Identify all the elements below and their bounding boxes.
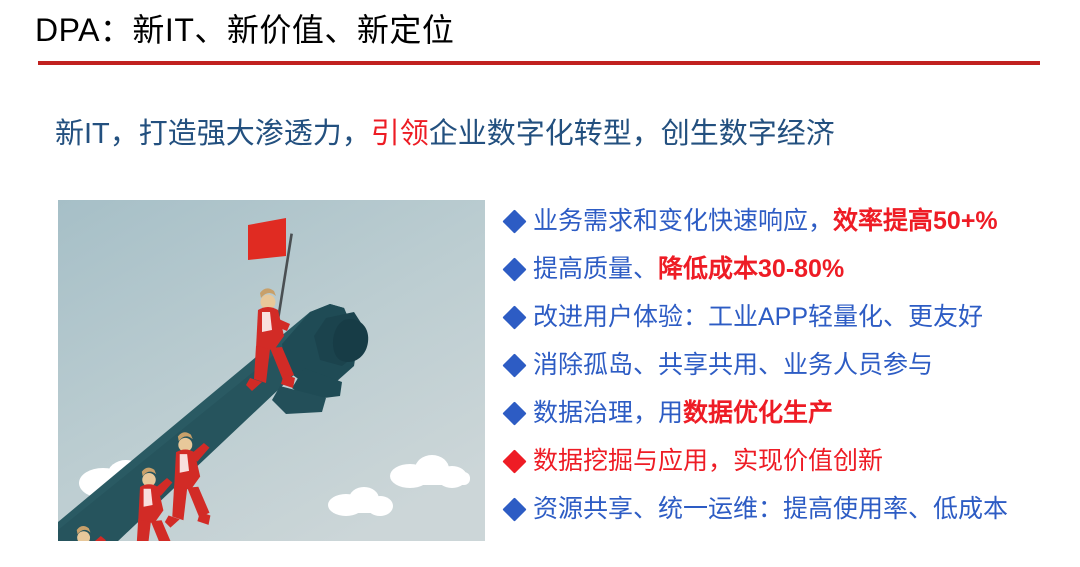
red-flag (248, 218, 286, 260)
list-item: 业务需求和变化快速响应，效率提高50+% (506, 197, 1080, 245)
subtitle-part2: 企业数字化转型，创生数字经济 (429, 118, 835, 150)
list-item: 数据治理，用数据优化生产 (506, 389, 1080, 437)
benefits-list: 业务需求和变化快速响应，效率提高50+% 提高质量、降低成本30-80% 改进用… (506, 197, 1080, 533)
list-item-label: 业务需求和变化快速响应，效率提高50+% (533, 206, 998, 236)
list-item-label: 提高质量、降低成本30-80% (533, 254, 844, 284)
business-climb-illustration (58, 200, 485, 541)
title-divider (38, 61, 1040, 65)
list-item-label: 数据治理，用数据优化生产 (533, 398, 833, 428)
list-item: 数据挖掘与应用，实现价值创新 (506, 437, 1080, 485)
diamond-bullet-icon (502, 257, 526, 281)
diamond-bullet-icon (502, 497, 526, 521)
list-item-label: 消除孤岛、共享共用、业务人员参与 (533, 350, 933, 380)
list-item: 提高质量、降低成本30-80% (506, 245, 1080, 293)
subtitle-line: 新IT，打造强大渗透力，引领企业数字化转型，创生数字经济 (55, 112, 835, 156)
illustration-svg (58, 200, 485, 541)
diamond-bullet-icon (502, 209, 526, 233)
page-title: DPA：新IT、新价值、新定位 (35, 8, 454, 52)
slide-root: DPA：新IT、新价值、新定位 新IT，打造强大渗透力，引领企业数字化转型，创生… (0, 0, 1080, 567)
list-item: 资源共享、统一运维：提高使用率、低成本 (506, 485, 1080, 533)
diamond-bullet-icon (502, 401, 526, 425)
list-item-label: 数据挖掘与应用，实现价值创新 (533, 446, 883, 476)
list-item-label: 改进用户体验：工业APP轻量化、更友好 (533, 302, 983, 332)
list-item-label: 资源共享、统一运维：提高使用率、低成本 (533, 494, 1008, 524)
list-item: 消除孤岛、共享共用、业务人员参与 (506, 341, 1080, 389)
subtitle-part1: 新IT，打造强大渗透力， (55, 118, 371, 150)
diamond-bullet-icon (502, 449, 526, 473)
list-item: 改进用户体验：工业APP轻量化、更友好 (506, 293, 1080, 341)
diamond-bullet-icon (502, 353, 526, 377)
diamond-bullet-icon (502, 305, 526, 329)
subtitle-highlight: 引领 (371, 118, 429, 150)
